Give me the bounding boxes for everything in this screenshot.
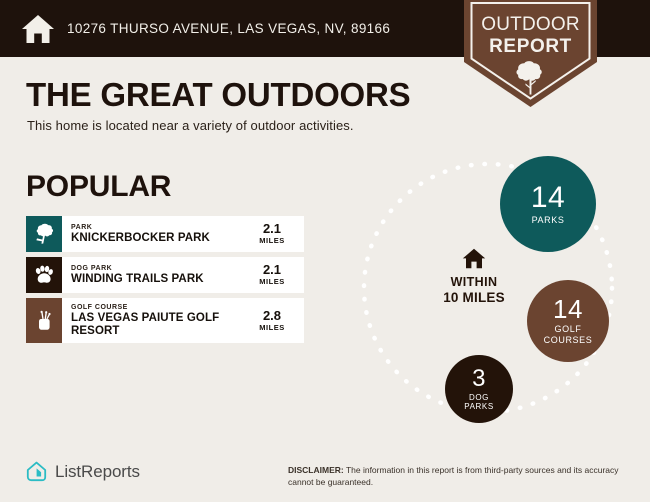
tree-icon (33, 223, 55, 245)
popular-heading: POPULAR (26, 170, 171, 204)
poi-icon-tile (26, 298, 62, 343)
stat-circle-parks[interactable]: 14 PARKS (500, 156, 596, 252)
badge-line-2: REPORT (464, 36, 597, 58)
poi-distance-value: 2.1 (263, 263, 281, 277)
stat-count: 14 (531, 183, 565, 213)
ring-center-line-2: 10 MILES (422, 290, 526, 306)
stat-label-line-2: PARKS (464, 402, 494, 412)
poi-icon-tile (26, 216, 62, 252)
stat-label: PARKS (532, 215, 565, 226)
poi-distance-unit: MILES (259, 323, 284, 333)
stat-circle-golf-courses[interactable]: 14 GOLF COURSES (527, 280, 609, 362)
poi-distance-unit: MILES (259, 277, 284, 287)
disclaimer-label: DISCLAIMER: (288, 465, 344, 475)
poi-distance: 2.1 MILES (244, 257, 304, 293)
poi-distance: 2.1 MILES (244, 216, 304, 252)
property-address: 10276 THURSO AVENUE, LAS VEGAS, NV, 8916… (67, 21, 390, 36)
outdoor-report-badge: OUTDOOR REPORT (464, 0, 597, 108)
stat-label: DOG PARKS (464, 393, 494, 412)
stat-label-line-1: DOG (464, 393, 494, 403)
outdoor-report-infographic: 10276 THURSO AVENUE, LAS VEGAS, NV, 8916… (0, 0, 650, 502)
stat-label-line-2: COURSES (544, 335, 593, 346)
poi-category: PARK (71, 223, 240, 232)
stat-circle-dog-parks[interactable]: 3 DOG PARKS (445, 355, 513, 423)
disclaimer: DISCLAIMER: The information in this repo… (288, 465, 634, 488)
list-item[interactable]: PARK KNICKERBOCKER PARK 2.1 MILES (26, 216, 304, 252)
poi-text: DOG PARK WINDING TRAILS PARK (62, 257, 244, 293)
listreports-house-icon (25, 460, 48, 483)
listreports-logo-text: ListReports (55, 462, 140, 482)
poi-category: DOG PARK (71, 264, 240, 273)
ring-center-line-1: WITHIN (422, 275, 526, 290)
poi-distance-value: 2.8 (263, 309, 281, 323)
ring-center-label: WITHIN 10 MILES (422, 248, 526, 306)
poi-name: KNICKERBOCKER PARK (71, 232, 240, 245)
stat-label: GOLF COURSES (544, 324, 593, 346)
badge-line-1: OUTDOOR (464, 14, 597, 36)
page-title: THE GREAT OUTDOORS (26, 76, 410, 114)
golf-bag-icon (33, 310, 55, 332)
poi-distance-unit: MILES (259, 236, 284, 246)
poi-distance-value: 2.1 (263, 222, 281, 236)
poi-distance: 2.8 MILES (244, 298, 304, 343)
list-item[interactable]: GOLF COURSE LAS VEGAS PAIUTE GOLF RESORT… (26, 298, 304, 343)
nearby-stats-ring: 14 PARKS 14 GOLF COURSES 3 DOG PARKS WIT… (360, 140, 650, 440)
badge-text: OUTDOOR REPORT (464, 14, 597, 58)
home-icon (21, 14, 55, 44)
poi-text: GOLF COURSE LAS VEGAS PAIUTE GOLF RESORT (62, 298, 244, 343)
stat-count: 3 (472, 367, 486, 391)
poi-name: LAS VEGAS PAIUTE GOLF RESORT (71, 312, 240, 338)
home-icon (462, 248, 486, 269)
popular-poi-list: PARK KNICKERBOCKER PARK 2.1 MILES DOG (26, 216, 304, 348)
page-subtitle: This home is located near a variety of o… (27, 118, 354, 133)
poi-category: GOLF COURSE (71, 303, 240, 312)
listreports-logo[interactable]: ListReports (25, 460, 140, 483)
list-item[interactable]: DOG PARK WINDING TRAILS PARK 2.1 MILES (26, 257, 304, 293)
stat-label-line-1: GOLF (544, 324, 593, 335)
paw-print-icon (33, 264, 55, 286)
poi-text: PARK KNICKERBOCKER PARK (62, 216, 244, 252)
stat-count: 14 (553, 296, 583, 322)
poi-name: WINDING TRAILS PARK (71, 273, 240, 286)
poi-icon-tile (26, 257, 62, 293)
